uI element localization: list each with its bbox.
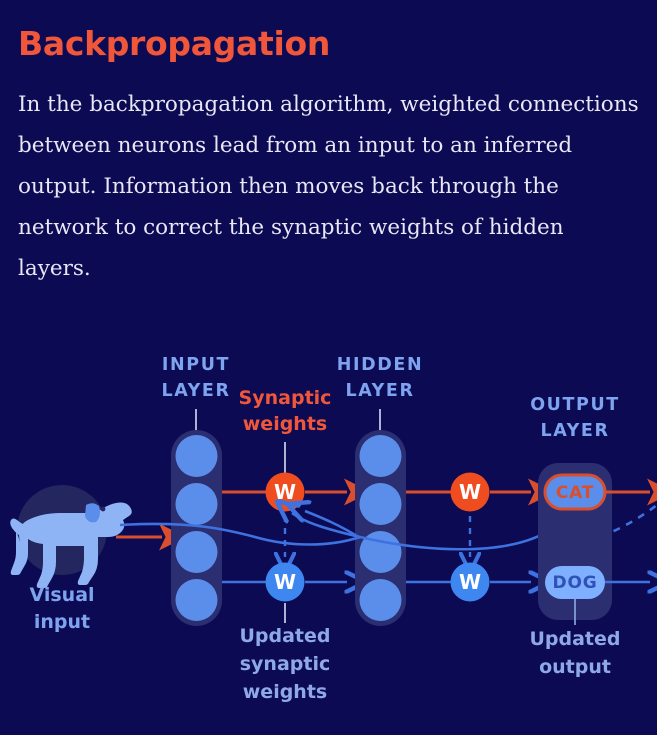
neuron — [360, 483, 402, 525]
neuron — [176, 531, 218, 573]
updated-weights-label-line1: Updated — [239, 625, 330, 647]
weight-node-letter: W — [274, 570, 296, 594]
updated-weights-label-group: Updated synaptic weights — [239, 603, 330, 703]
synaptic-weights-label-group: Synaptic weights — [239, 387, 332, 473]
neuron — [176, 579, 218, 621]
synaptic-weights-label-line2: weights — [243, 413, 327, 435]
weight-node-forward-2[interactable]: W — [451, 473, 490, 512]
input-layer-label-line2: LAYER — [161, 381, 230, 401]
visual-input-label-line2: input — [34, 611, 90, 633]
weight-node-letter: W — [274, 480, 296, 504]
input-layer-group: INPUT LAYER — [161, 355, 230, 626]
neuron — [176, 435, 218, 477]
hidden-layer-label-line2: LAYER — [345, 381, 414, 401]
output-dog-label: DOG — [553, 573, 598, 593]
synaptic-weights-label-line1: Synaptic — [239, 387, 332, 409]
updated-weights-label-line3: weights — [243, 681, 327, 703]
output-cat-pill[interactable]: CAT — [545, 475, 605, 509]
updated-weights-label-line2: synaptic — [240, 653, 331, 675]
weight-node-updated-2[interactable]: W — [451, 563, 490, 602]
neuron — [360, 435, 402, 477]
output-dog-pill[interactable]: DOG — [545, 566, 605, 599]
infographic-page: Backpropagation In the backpropagation a… — [0, 0, 657, 735]
output-layer-label-line2: LAYER — [540, 421, 609, 441]
visual-input-label-line1: Visual — [29, 584, 94, 606]
weight-node-updated-1[interactable]: W — [266, 563, 305, 602]
neuron — [360, 579, 402, 621]
weight-node-letter: W — [459, 570, 481, 594]
body-paragraph: In the backpropagation algorithm, weight… — [18, 84, 642, 289]
backpropagation-diagram: Visual input INPUT LAYER Synaptic weight… — [0, 325, 657, 735]
output-cat-label: CAT — [556, 483, 594, 503]
updated-output-label-line1: Updated — [529, 628, 620, 650]
hidden-layer-label-line1: HIDDEN — [337, 355, 423, 375]
neuron — [176, 483, 218, 525]
page-title: Backpropagation — [18, 24, 330, 63]
weight-node-forward-1[interactable]: W — [266, 473, 305, 512]
input-layer-label-line1: INPUT — [162, 355, 230, 375]
updated-output-label-line2: output — [539, 656, 611, 678]
visual-input-illustration: Visual input — [10, 485, 132, 633]
weight-node-letter: W — [459, 480, 481, 504]
output-layer-label-line1: OUTPUT — [530, 395, 620, 415]
